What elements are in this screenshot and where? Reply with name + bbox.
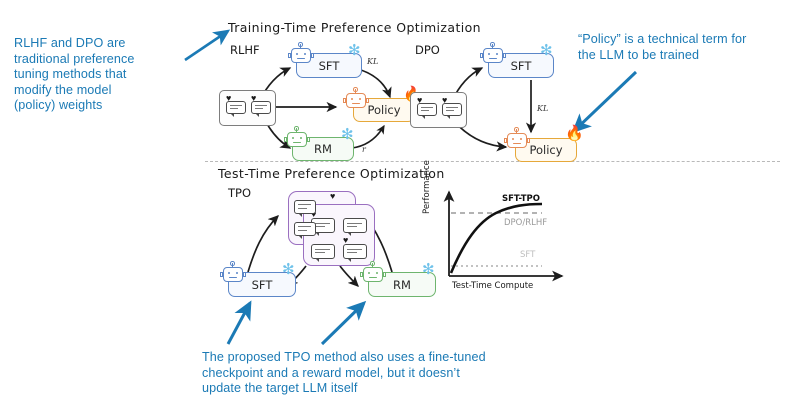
- chart-label-dpo-rlhf: DPO/RLHF: [504, 218, 547, 228]
- method-label-tpo: TPO: [228, 186, 251, 200]
- node-policy-rlhf[interactable]: Policy 🔥: [345, 91, 417, 123]
- annotation-arrow-bottom-rm: [322, 303, 364, 344]
- annotation-right: “Policy” is a technical term for the LLM…: [578, 32, 796, 63]
- annotation-arrow-left: [185, 31, 228, 60]
- node-sft-rlhf-label: SFT: [319, 59, 340, 73]
- annotation-left: RLHF and DPO are traditional preference …: [14, 36, 189, 114]
- annotation-arrow-right: [574, 72, 636, 131]
- flame-icon: 🔥: [565, 126, 584, 141]
- edge-responses-to-rm: [340, 266, 358, 286]
- robot-icon: [222, 263, 244, 283]
- heart-icon: ♥: [226, 94, 231, 103]
- chart-x-axis-label: Test-Time Compute: [452, 281, 533, 291]
- robot-icon: [290, 44, 312, 64]
- speech-bubble-icon: [343, 218, 367, 233]
- node-policy-rlhf-label: Policy: [367, 103, 400, 117]
- node-sft-rlhf[interactable]: SFT ✻: [290, 48, 362, 78]
- snowflake-icon: ✻: [341, 127, 354, 142]
- robot-icon: [286, 128, 308, 148]
- edge-label-r-rlhf: r: [362, 145, 366, 154]
- snowflake-icon: ✻: [282, 262, 295, 277]
- heart-icon: ♥: [417, 96, 422, 105]
- speech-bubble-icon: [311, 244, 335, 259]
- edge-label-kl-dpo: KL: [537, 104, 548, 113]
- node-policy-dpo[interactable]: Policy 🔥: [506, 131, 580, 163]
- speech-bubble-icon: [294, 200, 316, 214]
- robot-icon: [506, 129, 528, 149]
- snowflake-icon: ✻: [540, 43, 553, 58]
- performance-chart: Performance Test-Time Compute SFT-TPO DP…: [424, 186, 576, 308]
- diagram-canvas: RLHF and DPO are traditional preference …: [0, 0, 800, 409]
- edge-rm-to-policy-reward: [352, 126, 384, 148]
- chart-label-sft-tpo: SFT-TPO: [502, 194, 540, 204]
- preference-data-card-dpo: ♥ ♥: [410, 92, 467, 128]
- heart-icon: ♥: [251, 94, 256, 103]
- node-rm-rlhf-label: RM: [314, 142, 332, 156]
- chart-label-sft: SFT: [520, 250, 535, 260]
- node-rm-rlhf[interactable]: RM ✻: [286, 131, 354, 161]
- chart-series-sft-tpo: [451, 204, 542, 273]
- robot-icon: [345, 89, 367, 109]
- section-title-training: Training-Time Preference Optimization: [228, 20, 481, 35]
- node-policy-dpo-label: Policy: [529, 143, 562, 157]
- section-divider: [205, 161, 780, 162]
- method-label-dpo: DPO: [415, 43, 440, 57]
- annotation-arrow-bottom-sft: [228, 303, 250, 344]
- robot-icon: [362, 263, 384, 283]
- node-rm-tpo-label: RM: [393, 278, 411, 292]
- chart-y-axis-label: Performance: [422, 160, 432, 214]
- section-title-test: Test-Time Preference Optimization: [218, 166, 445, 181]
- annotation-bottom: The proposed TPO method also uses a fine…: [202, 350, 622, 397]
- heart-icon: ♥: [330, 192, 335, 201]
- robot-icon: [482, 44, 504, 64]
- preference-data-card-rlhf: ♥ ♥: [219, 90, 276, 126]
- speech-bubble-icon: [294, 222, 316, 236]
- response-bubbles-back-group: [291, 196, 321, 240]
- node-sft-tpo-label: SFT: [252, 278, 273, 292]
- edge-label-kl-rlhf: KL: [367, 57, 378, 66]
- node-sft-dpo-label: SFT: [511, 59, 532, 73]
- heart-icon: ♥: [442, 96, 447, 105]
- snowflake-icon: ✻: [348, 43, 361, 58]
- node-sft-dpo[interactable]: SFT ✻: [482, 48, 554, 78]
- speech-bubble-icon: [343, 244, 367, 259]
- heart-icon: ♥: [343, 236, 348, 245]
- method-label-rlhf: RLHF: [230, 43, 260, 57]
- edge-sft-to-responses: [248, 216, 278, 272]
- node-sft-tpo[interactable]: SFT ✻: [222, 265, 298, 297]
